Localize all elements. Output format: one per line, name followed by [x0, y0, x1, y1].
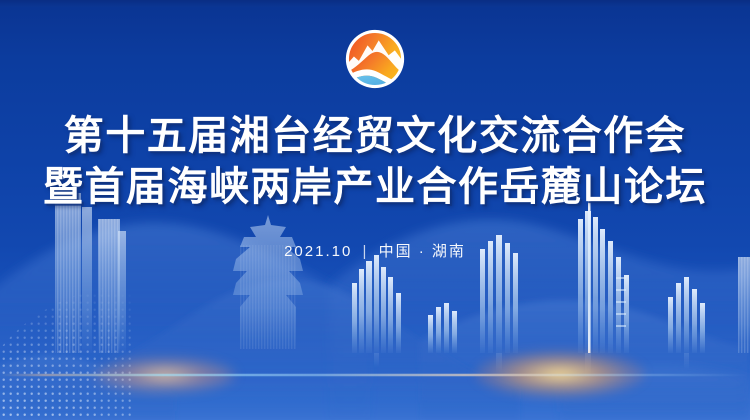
- logo-emblem-icon: [344, 28, 406, 90]
- subtitle-location: 中国 · 湖南: [379, 243, 466, 260]
- main-title-line-2: 暨首届海峡两岸产业合作岳麓山论坛: [0, 161, 750, 212]
- main-title-line-1: 第十五届湘台经贸文化交流合作会: [0, 110, 750, 161]
- title-block: 第十五届湘台经贸文化交流合作会 暨首届海峡两岸产业合作岳麓山论坛: [0, 110, 750, 212]
- subtitle-date: 2021.10: [284, 243, 352, 260]
- subtitle-separator: |: [358, 243, 372, 260]
- halftone-dot-arc: [0, 280, 260, 420]
- landmark-tower: [578, 195, 629, 353]
- conference-logo: [344, 28, 406, 90]
- tower-cluster-right: [668, 257, 750, 353]
- conference-banner: 第十五届湘台经贸文化交流合作会 暨首届海峡两岸产业合作岳麓山论坛 2021.10…: [0, 0, 750, 420]
- subtitle-line: 2021.10 | 中国 · 湖南: [0, 240, 750, 261]
- top-edge-band: [0, 0, 750, 7]
